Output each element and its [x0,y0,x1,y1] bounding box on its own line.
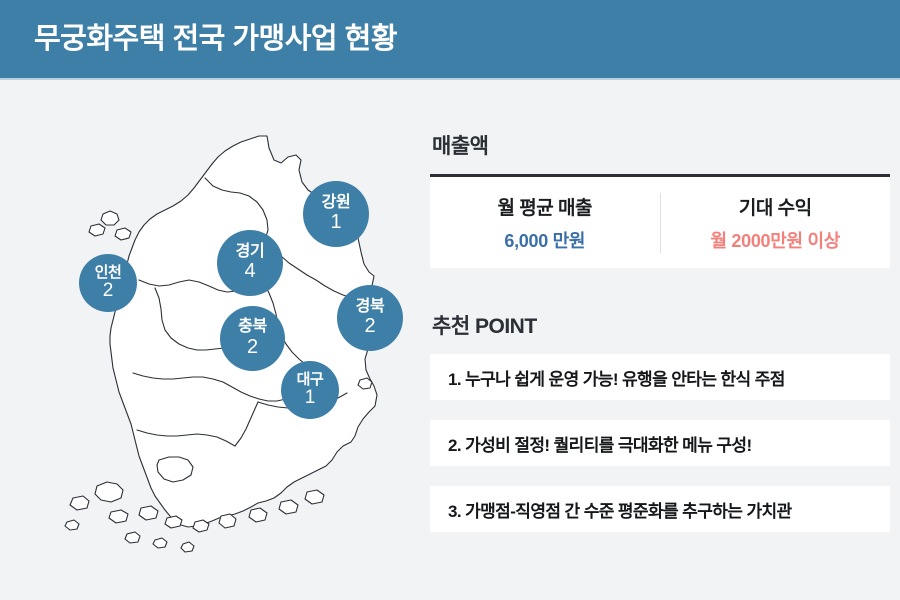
island-southwest-4 [139,506,158,520]
island-west-1 [101,211,119,225]
island-south-3 [249,508,267,522]
page-header: 무궁화주택 전국 가맹사업 현황 [0,0,900,80]
point-text: 2. 가성비 절정! 퀄리티를 극대화한 메뉴 구성! [448,431,752,456]
map-marker-incheon[interactable]: 인천 2 [79,254,137,312]
map-marker-gangwon[interactable]: 강원 1 [303,181,369,247]
marker-label: 인천 [95,265,122,281]
island-south-7 [153,538,167,548]
map-marker-gyeonggi[interactable]: 경기 4 [217,230,283,296]
right-column: 매출액 월 평균 매출 6,000 만원 기대 수익 월 2000만원 이상 추… [430,130,890,552]
island-west-2 [89,224,105,236]
marker-label: 대구 [297,372,324,388]
marker-label: 경기 [236,244,265,261]
point-row: 2. 가성비 절정! 퀄리티를 극대화한 메뉴 구성! [430,420,890,466]
marker-count: 2 [103,281,114,301]
map-marker-daegu[interactable]: 대구 1 [281,361,339,419]
island-south-6 [125,532,140,543]
island-south-5 [305,490,324,504]
island-west-3 [115,228,131,240]
korea-map-panel: 강원 1 경기 4 인천 2 경북 2 충북 2 대구 1 [55,130,425,595]
marker-count: 1 [305,388,316,408]
marker-count: 1 [330,212,341,233]
point-row: 1. 누구나 쉽게 운영 가능! 유행을 안타는 한식 주점 [430,354,890,400]
revenue-label: 기대 수익 [739,193,812,220]
marker-label: 경북 [356,299,385,316]
point-text: 3. 가맹점-직영점 간 수준 평준화를 추구하는 가치관 [448,497,792,522]
infographic-page: 무궁화주택 전국 가맹사업 현황 [0,0,900,600]
island-south-2 [219,514,236,528]
marker-count: 4 [244,261,255,282]
island-southwest-1 [95,482,123,502]
island-southwest-3 [109,510,128,523]
revenue-value: 6,000 만원 [504,227,585,253]
island-south-8 [181,542,194,552]
island-southwest-2 [70,496,89,510]
marker-count: 2 [247,337,258,358]
marker-count: 2 [364,316,375,337]
island-south-1 [193,520,209,532]
marker-label: 강원 [322,195,351,212]
island-south-4 [279,500,298,514]
points-section-title: 추천 POINT [432,310,890,340]
map-marker-chungbuk[interactable]: 충북 2 [220,306,285,371]
revenue-cell-expected-profit: 기대 수익 월 2000만원 이상 [660,193,891,253]
marker-label: 충북 [238,319,267,336]
revenue-value: 월 2000만원 이상 [710,227,840,253]
point-text: 1. 누구나 쉽게 운영 가능! 유행을 안타는 한식 주점 [448,365,785,390]
page-title: 무궁화주택 전국 가맹사업 현황 [34,25,397,54]
map-marker-gyeongbuk[interactable]: 경북 2 [337,285,403,351]
revenue-card: 월 평균 매출 6,000 만원 기대 수익 월 2000만원 이상 [430,174,890,268]
revenue-label: 월 평균 매출 [498,193,592,220]
island-southwest-5 [165,516,182,528]
point-row: 3. 가맹점-직영점 간 수준 평준화를 추구하는 가치관 [430,486,890,532]
island-east-1 [358,378,372,389]
island-southwest-6 [65,520,79,530]
revenue-section-title: 매출액 [432,130,890,160]
revenue-cell-monthly-average: 월 평균 매출 6,000 만원 [430,193,660,253]
